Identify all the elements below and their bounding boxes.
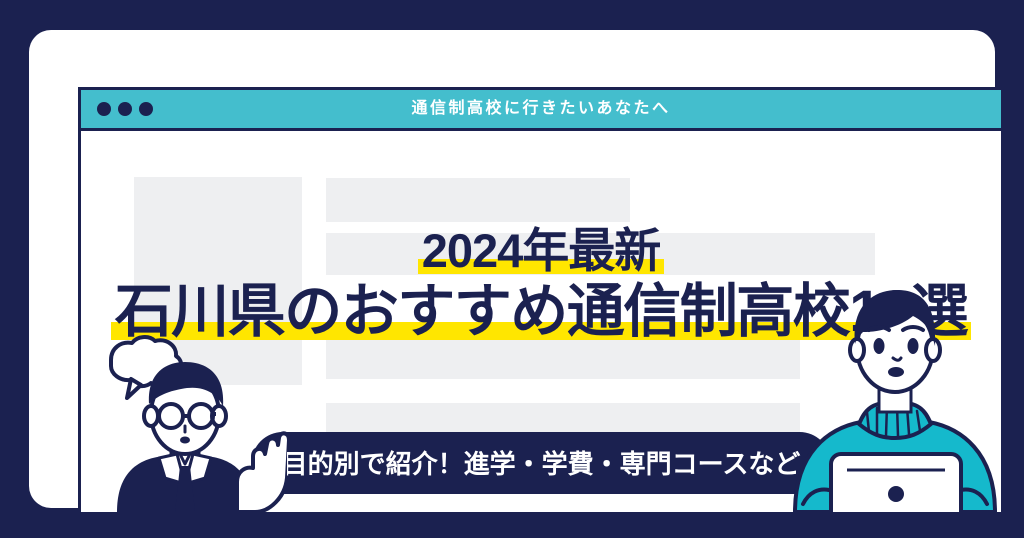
- headline-line-1-text: 2024年最新: [418, 224, 665, 277]
- white-rounded-card: 通信制高校に行きたいあなたへ 2024年最新 石川県のおすすめ通信制高校10選: [29, 30, 995, 508]
- browser-titlebar-title: 通信制高校に行きたいあなたへ: [81, 90, 1001, 128]
- poster-canvas: 通信制高校に行きたいあなたへ 2024年最新 石川県のおすすめ通信制高校10選: [0, 0, 1024, 538]
- laptop-icon: [831, 454, 961, 512]
- illustration-man-with-glasses: [87, 332, 287, 512]
- illustration-person-with-laptop: [785, 282, 1001, 512]
- browser-window-mockup: 通信制高校に行きたいあなたへ 2024年最新 石川県のおすすめ通信制高校10選: [78, 87, 1004, 515]
- subtitle-pill: 目的別で紹介！進学・学費・専門コースなど: [252, 432, 831, 494]
- text-line-placeholder-1: [326, 178, 630, 222]
- text-line-placeholder-3: [326, 339, 800, 379]
- headline-line-1: 2024年最新: [81, 225, 1001, 278]
- browser-titlebar: 通信制高校に行きたいあなたへ: [81, 90, 1001, 131]
- browser-content-area: 2024年最新 石川県のおすすめ通信制高校10選 目的別で紹介！進学・学費・専門…: [81, 131, 1001, 512]
